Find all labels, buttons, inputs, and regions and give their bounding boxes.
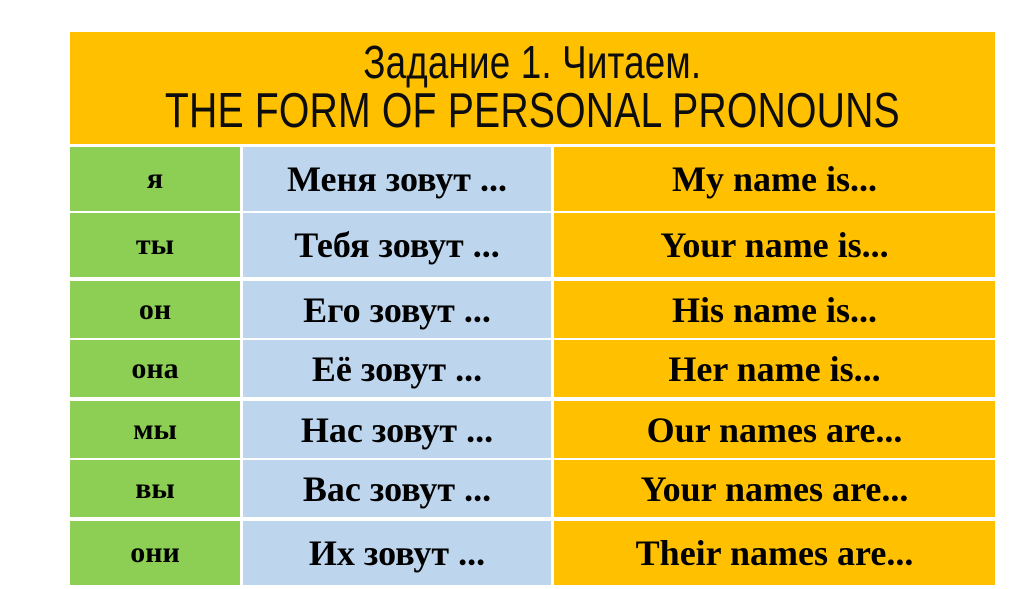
table-row: я Меня зовут ... My name is... — [70, 147, 995, 211]
cell-russian-phrase: Меня зовут ... — [243, 147, 551, 211]
cell-pronoun: вы — [70, 460, 240, 517]
cell-russian-phrase: Её зовут ... — [243, 340, 551, 397]
cell-russian-phrase: Его зовут ... — [243, 281, 551, 338]
table-row: мы Нас зовут ... Our names are... — [70, 401, 995, 458]
cell-russian-phrase: Тебя зовут ... — [243, 213, 551, 277]
cell-pronoun: мы — [70, 401, 240, 458]
title-banner: Задание 1. Читаем. THE FORM OF PERSONAL … — [70, 32, 995, 144]
pronoun-table: я Меня зовут ... My name is... ты Тебя з… — [70, 147, 995, 589]
cell-english-phrase: Our names are... — [554, 401, 995, 458]
cell-english-phrase: Your name is... — [554, 213, 995, 277]
cell-english-phrase: My name is... — [554, 147, 995, 211]
cell-pronoun: она — [70, 340, 240, 397]
cell-pronoun: он — [70, 281, 240, 338]
cell-english-phrase: His name is... — [554, 281, 995, 338]
table-row: она Её зовут ... Her name is... — [70, 340, 995, 397]
table-row: он Его зовут ... His name is... — [70, 281, 995, 338]
cell-pronoun: они — [70, 521, 240, 585]
cell-pronoun: я — [70, 147, 240, 211]
cell-english-phrase: Her name is... — [554, 340, 995, 397]
cell-english-phrase: Your names are... — [554, 460, 995, 517]
title-line-english: THE FORM OF PERSONAL PRONOUNS — [165, 87, 900, 137]
table-row: ты Тебя зовут ... Your name is... — [70, 213, 995, 277]
cell-russian-phrase: Их зовут ... — [243, 521, 551, 585]
title-line-russian: Задание 1. Читаем. — [363, 39, 701, 86]
cell-pronoun: ты — [70, 213, 240, 277]
cell-russian-phrase: Нас зовут ... — [243, 401, 551, 458]
slide-canvas: Задание 1. Читаем. THE FORM OF PERSONAL … — [0, 0, 1024, 589]
cell-russian-phrase: Вас зовут ... — [243, 460, 551, 517]
table-row: вы Вас зовут ... Your names are... — [70, 460, 995, 517]
cell-english-phrase: Their names are... — [554, 521, 995, 585]
table-row: они Их зовут ... Their names are... — [70, 521, 995, 585]
